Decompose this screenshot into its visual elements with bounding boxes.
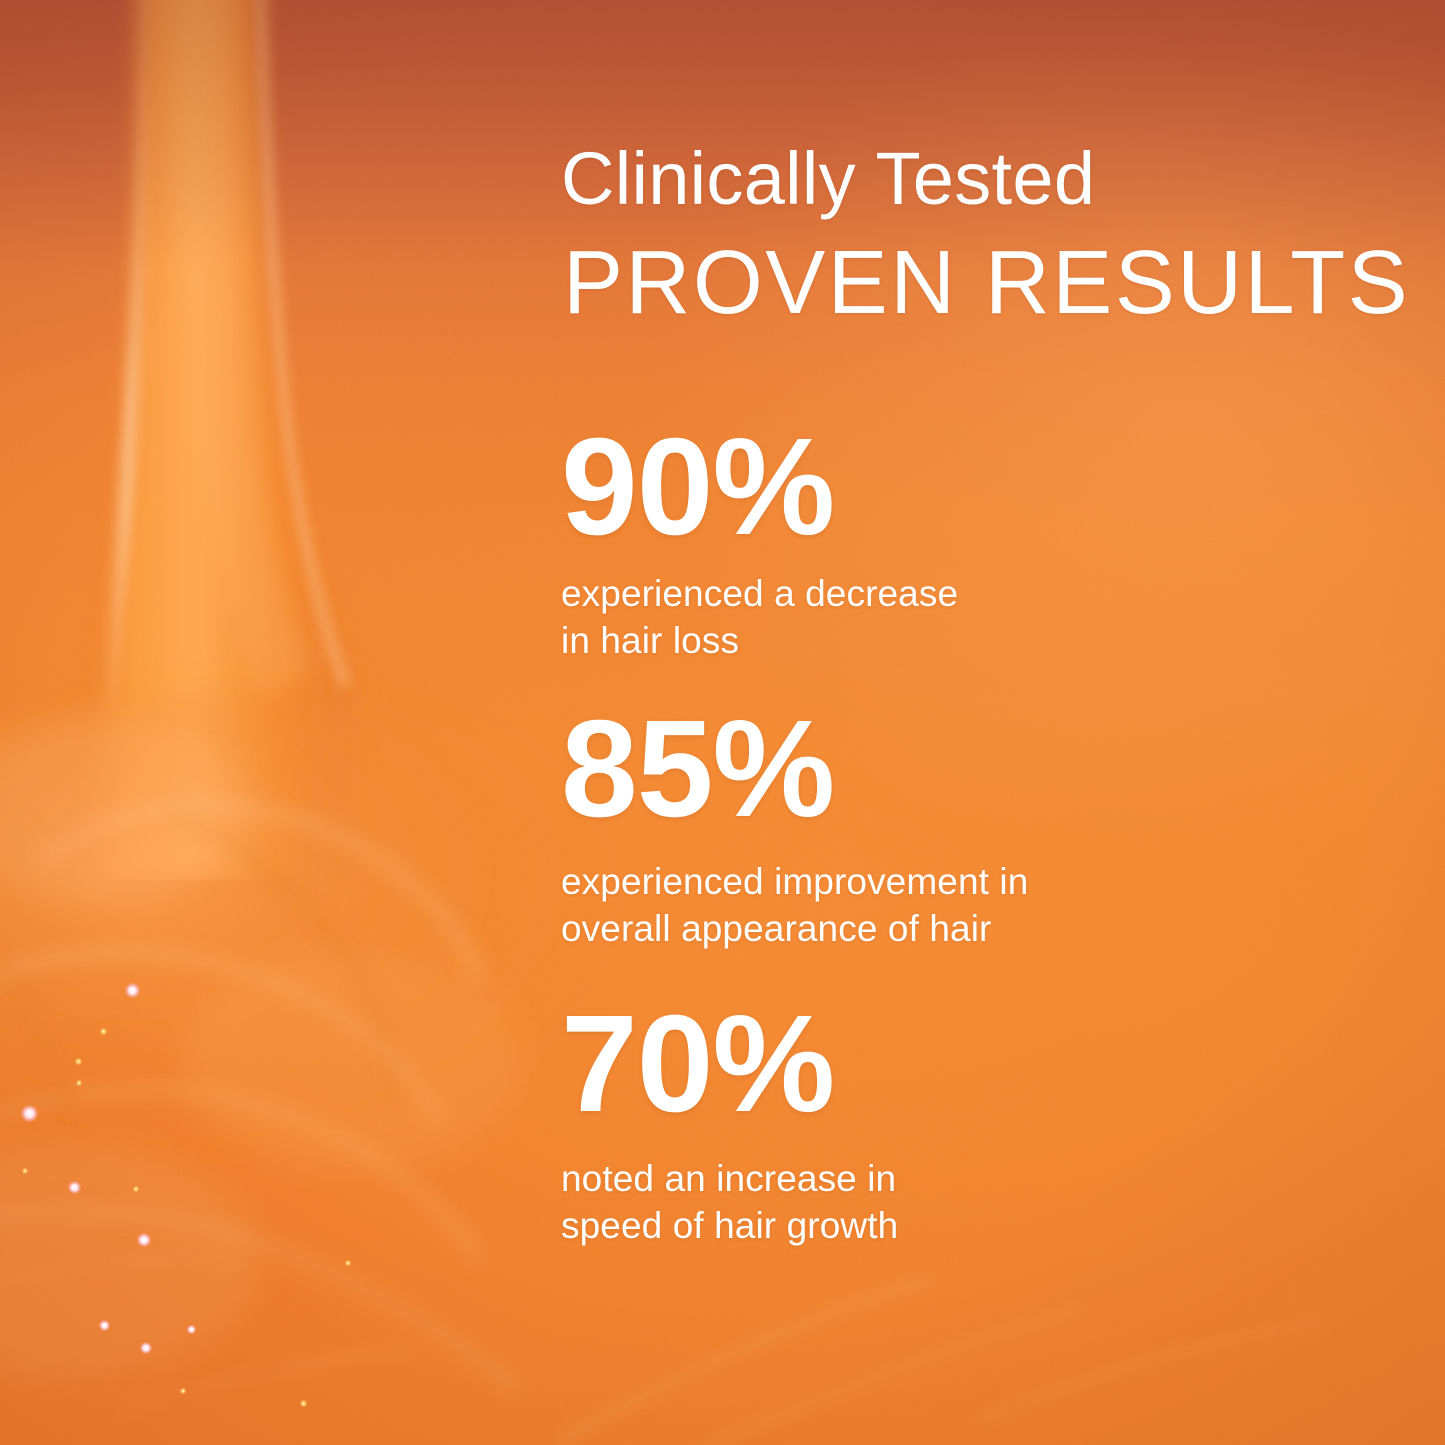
sparkle-highlight [187,1325,196,1334]
stat-description: experienced a decrease in hair loss [561,556,1361,665]
sparkle-highlight [68,1181,81,1194]
eyebrow-text: Clinically Tested [561,142,1095,216]
stat-block: 90% experienced a decrease in hair loss [561,418,1361,665]
sparkle-highlight-small [22,1168,28,1174]
clinical-results-promo-card: Clinically Tested PROVEN RESULTS 90% exp… [0,0,1445,1445]
sparkle-highlight [140,1342,152,1354]
sparkle-highlight [125,983,140,998]
sparkle-highlight-small [133,1186,139,1192]
sparkle-highlight-small [345,1260,351,1266]
sparkle-highlight [21,1105,38,1122]
stat-block: 85% experienced improvement in overall a… [561,700,1361,953]
sparkle-highlight-small [180,1388,186,1394]
sparkle-highlight [99,1320,110,1331]
stat-description: noted an increase in speed of hair growt… [561,1133,1361,1250]
sparkle-highlight-small [75,1058,82,1065]
text-content-column: Clinically Tested PROVEN RESULTS 90% exp… [561,0,1381,1445]
page-title: PROVEN RESULTS [563,238,1410,328]
stat-value: 90% [561,418,1361,556]
stat-value: 85% [561,700,1361,838]
sparkle-highlight-small [100,1028,107,1035]
sparkle-highlight [137,1233,151,1247]
stat-value: 70% [561,995,1361,1133]
sparkle-highlight-small [76,1080,82,1086]
gel-stream-graphic [0,0,390,880]
sparkle-highlight-small [300,1400,307,1407]
stat-description: experienced improvement in overall appea… [561,838,1361,953]
stat-block: 70% noted an increase in speed of hair g… [561,995,1361,1250]
